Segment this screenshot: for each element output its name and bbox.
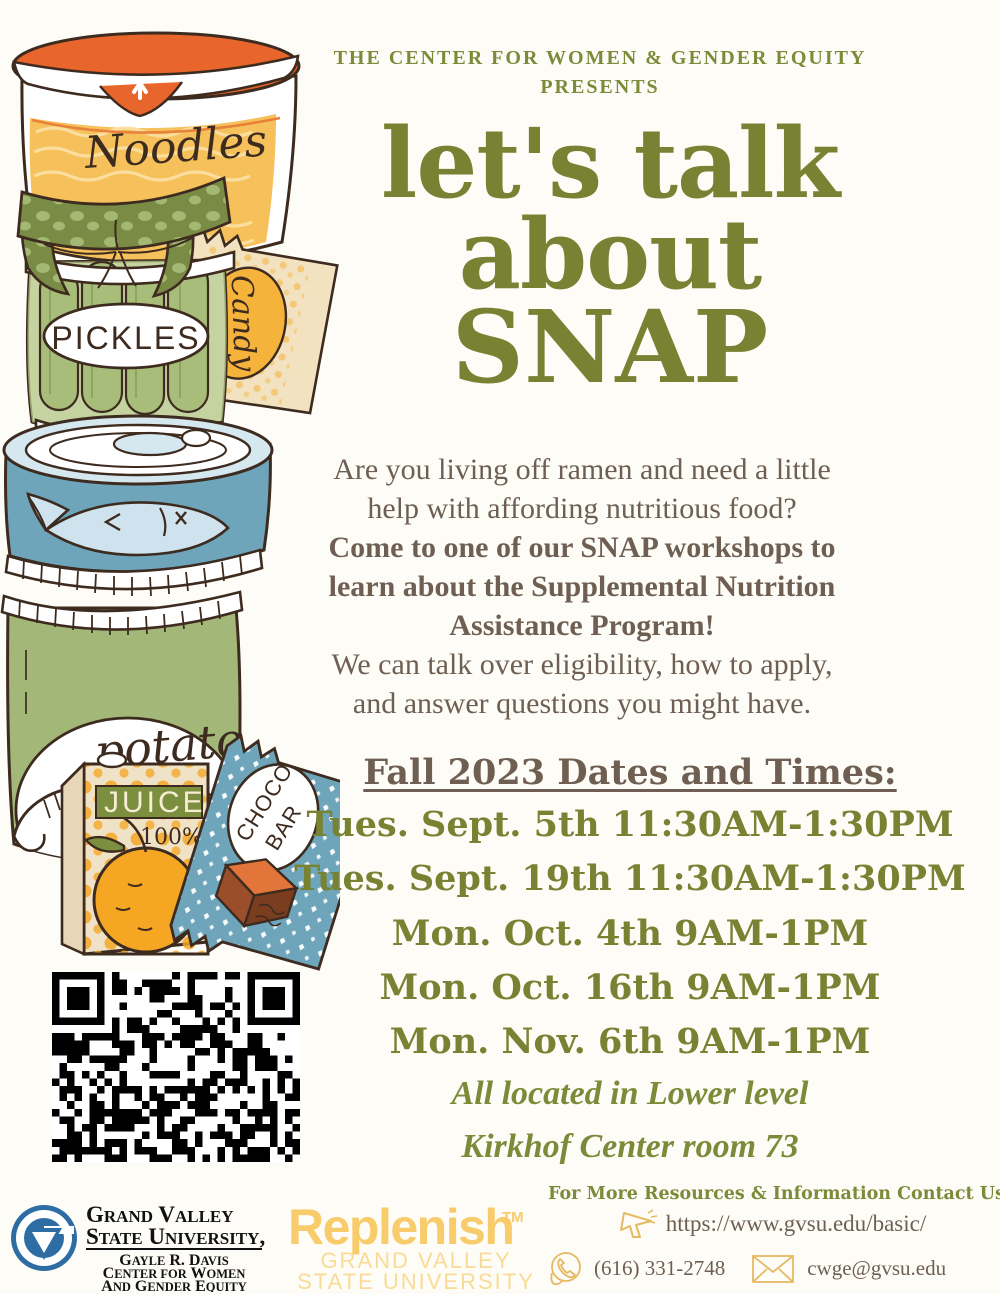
contact-heading: For More Resources & Information Contact… <box>548 1184 996 1204</box>
noodle-cup-illustration: Noodles <box>13 33 299 262</box>
juice-straw-illustration <box>14 782 115 856</box>
pickles-label-text: PICKLES <box>51 320 200 356</box>
title-line-2: about <box>300 209 920 300</box>
contact-email[interactable]: cwge@gvsu.edu <box>807 1256 946 1281</box>
date-item: Tues. Sept. 5th 11:30AM-1:30PM <box>280 798 980 852</box>
contact-website-row[interactable]: https://www.gvsu.edu/basic/ <box>548 1208 996 1240</box>
date-item: Mon. Nov. 6th 9AM-1PM <box>280 1015 980 1069</box>
qr-code[interactable] <box>52 972 300 1162</box>
juice-percent-text: 100% <box>140 825 203 850</box>
gvsu-logo: GRAND VALLEY STATE UNIVERSITY, GAYLE R. … <box>8 1196 270 1292</box>
replenish-sub-2: STATE UNIVERSITY <box>297 1269 535 1292</box>
replenish-wordmark: Replenish <box>288 1200 513 1255</box>
title-line-1: let's talk <box>300 118 920 209</box>
juice-label-text: JUICE <box>104 786 206 819</box>
date-item: Tues. Sept. 19th 11:30AM-1:30PM <box>280 852 980 906</box>
replenish-tm: TM <box>502 1209 524 1226</box>
location-block: All located in Lower level Kirkhof Cente… <box>320 1068 940 1173</box>
title-line-3: SNAP <box>300 300 920 395</box>
kicker-line-2: PRESENTS <box>300 73 900 102</box>
candy-label-text: Candy <box>224 274 262 373</box>
pickle-jar-illustration: PICKLES <box>18 178 234 449</box>
poster-root: Noodles Candy <box>0 0 1000 1294</box>
dates-heading: Fall 2023 Dates and Times: <box>300 752 960 793</box>
gvsu-line-2: STATE UNIVERSITY, <box>86 1224 265 1249</box>
contact-block: For More Resources & Information Contact… <box>548 1184 996 1292</box>
blurb-line-4: learn about the Supplemental Nutrition <box>252 567 912 606</box>
envelope-icon <box>749 1250 797 1286</box>
potato-chip-bag-illustration: potato <box>2 592 246 902</box>
noodles-label-text: Noodles <box>82 115 268 179</box>
contact-phone-email-row: (616) 331-2748 cwge@gvsu.edu <box>548 1250 996 1286</box>
kicker-line-1: THE CENTER FOR WOMEN & GENDER EQUITY <box>334 47 867 69</box>
contact-phone[interactable]: (616) 331-2748 <box>594 1256 725 1281</box>
gvsu-mark-icon <box>11 1205 77 1271</box>
blurb-line-3: Come to one of our SNAP workshops to <box>252 528 912 567</box>
presenter-kicker: THE CENTER FOR WOMEN & GENDER EQUITY PRE… <box>300 44 900 102</box>
juice-box-illustration: JUICE 100% <box>62 753 208 954</box>
date-item: Mon. Oct. 4th 9AM-1PM <box>280 907 980 961</box>
page-title: let's talk about SNAP <box>300 118 920 395</box>
blurb-line-1: Are you living off ramen and need a litt… <box>252 450 912 489</box>
location-line-1: All located in Lower level <box>320 1068 940 1121</box>
fish-can-illustration <box>4 416 272 596</box>
blurb-line-5: Assistance Program! <box>252 606 912 645</box>
date-item: Mon. Oct. 16th 9AM-1PM <box>280 961 980 1015</box>
blurb-line-2: help with affording nutritious food? <box>252 489 912 528</box>
potato-label-text: potato <box>92 712 245 779</box>
cursor-arrow-icon <box>618 1208 658 1240</box>
location-line-2: Kirkhof Center room 73 <box>320 1121 940 1174</box>
contact-website[interactable]: https://www.gvsu.edu/basic/ <box>666 1211 926 1237</box>
replenish-logo: Replenish TM GRAND VALLEY STATE UNIVERSI… <box>288 1200 538 1292</box>
blurb-line-7: and answer questions you might have. <box>252 684 912 723</box>
description-paragraph: Are you living off ramen and need a litt… <box>252 450 912 723</box>
dates-list: Tues. Sept. 5th 11:30AM-1:30PM Tues. Sep… <box>280 798 980 1069</box>
phone-icon <box>548 1250 584 1286</box>
gvsu-sub-3: AND GENDER EQUITY <box>101 1278 247 1292</box>
qr-code-canvas[interactable] <box>52 972 300 1162</box>
blurb-line-6: We can talk over eligibility, how to app… <box>252 645 912 684</box>
